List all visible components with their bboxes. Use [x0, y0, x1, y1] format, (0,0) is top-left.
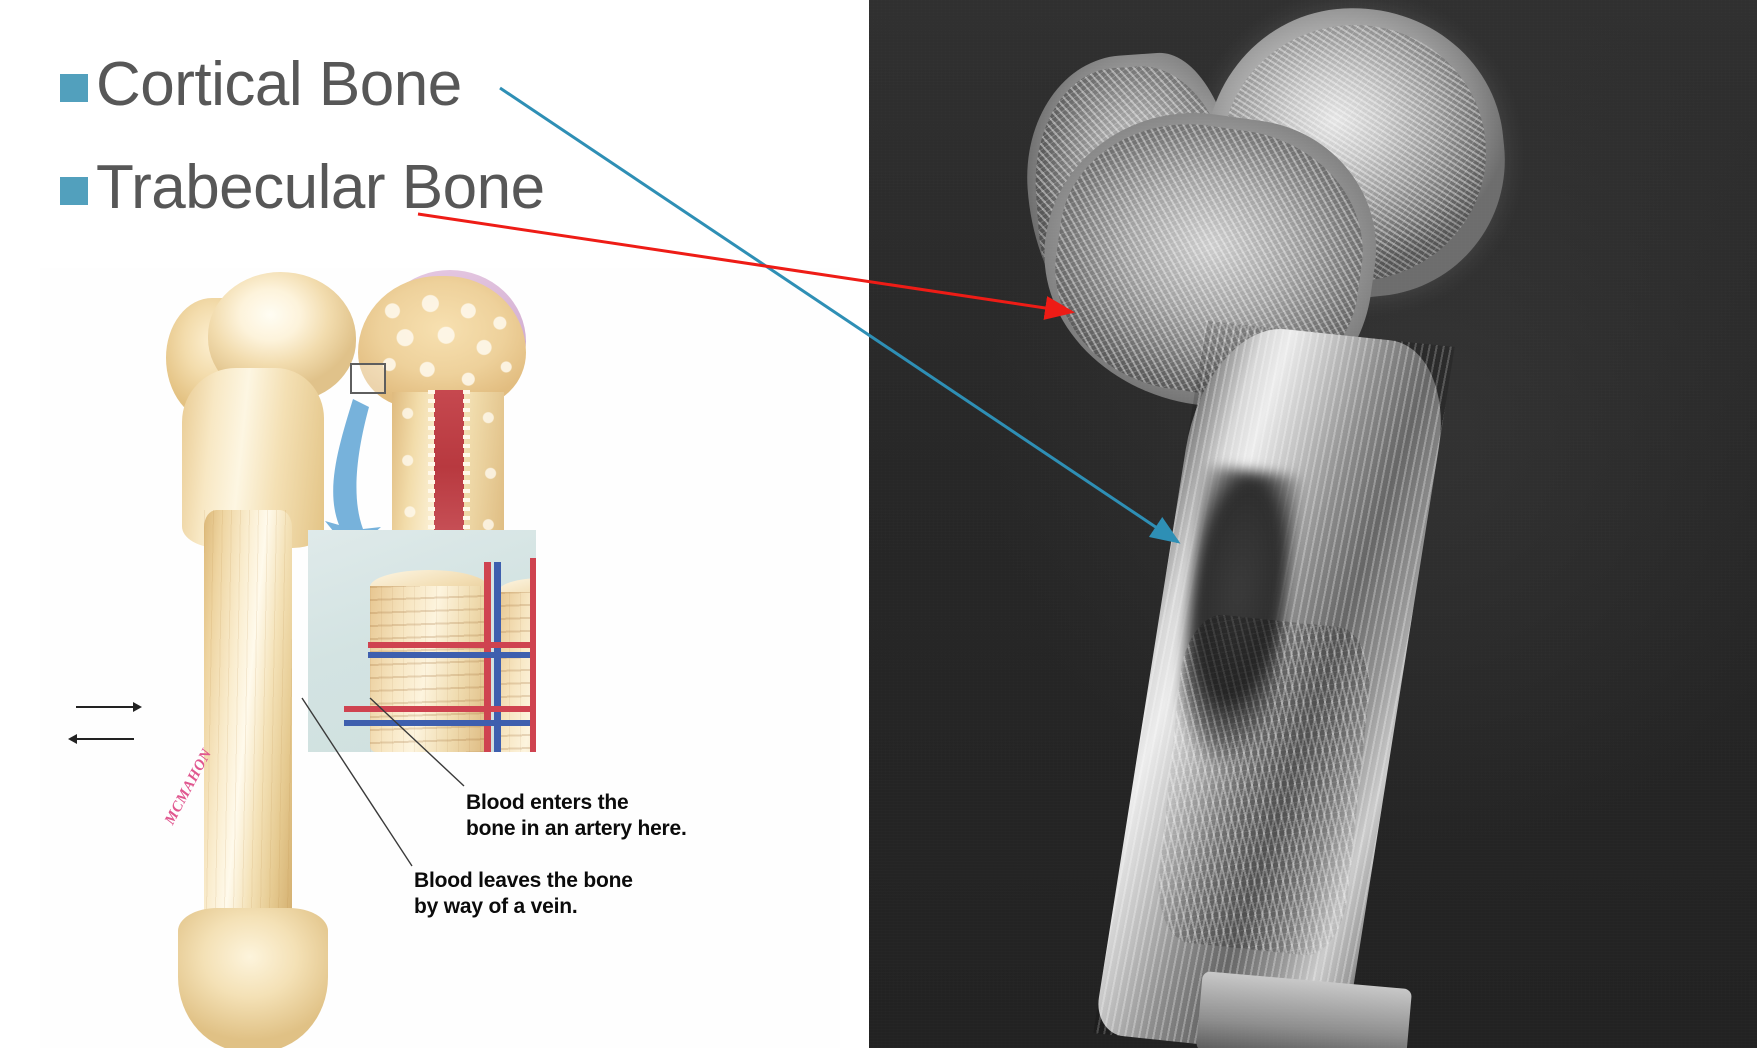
bullet-label-cortical-bone: Cortical Bone — [96, 52, 462, 117]
bullet-list: Cortical Bone Trabecular Bone — [60, 52, 880, 258]
vein-caption-line-2: by way of a vein. — [414, 894, 633, 920]
square-bullet-icon — [60, 74, 88, 102]
caption-leader-lines — [40, 268, 840, 1048]
vein-caption: Blood leaves the bone by way of a vein. — [414, 868, 633, 919]
artery-caption-line-2: bone in an artery here. — [466, 816, 687, 842]
bullet-item-cortical-bone[interactable]: Cortical Bone — [60, 52, 880, 117]
artery-caption-line-1: Blood enters the — [466, 790, 687, 816]
xray-film-grain — [869, 0, 1757, 1048]
vein-caption-line-1: Blood leaves the bone — [414, 868, 633, 894]
xray-image — [869, 0, 1757, 1048]
long-bone-anatomy-illustration: MCMAHON — [40, 268, 840, 1048]
square-bullet-icon — [60, 177, 88, 205]
artery-caption: Blood enters the bone in an artery here. — [466, 790, 687, 841]
bullet-item-trabecular-bone[interactable]: Trabecular Bone — [60, 155, 880, 220]
bullet-label-trabecular-bone: Trabecular Bone — [96, 155, 545, 220]
slide-canvas: Cortical Bone Trabecular Bone MCMAHON — [0, 0, 1757, 1048]
